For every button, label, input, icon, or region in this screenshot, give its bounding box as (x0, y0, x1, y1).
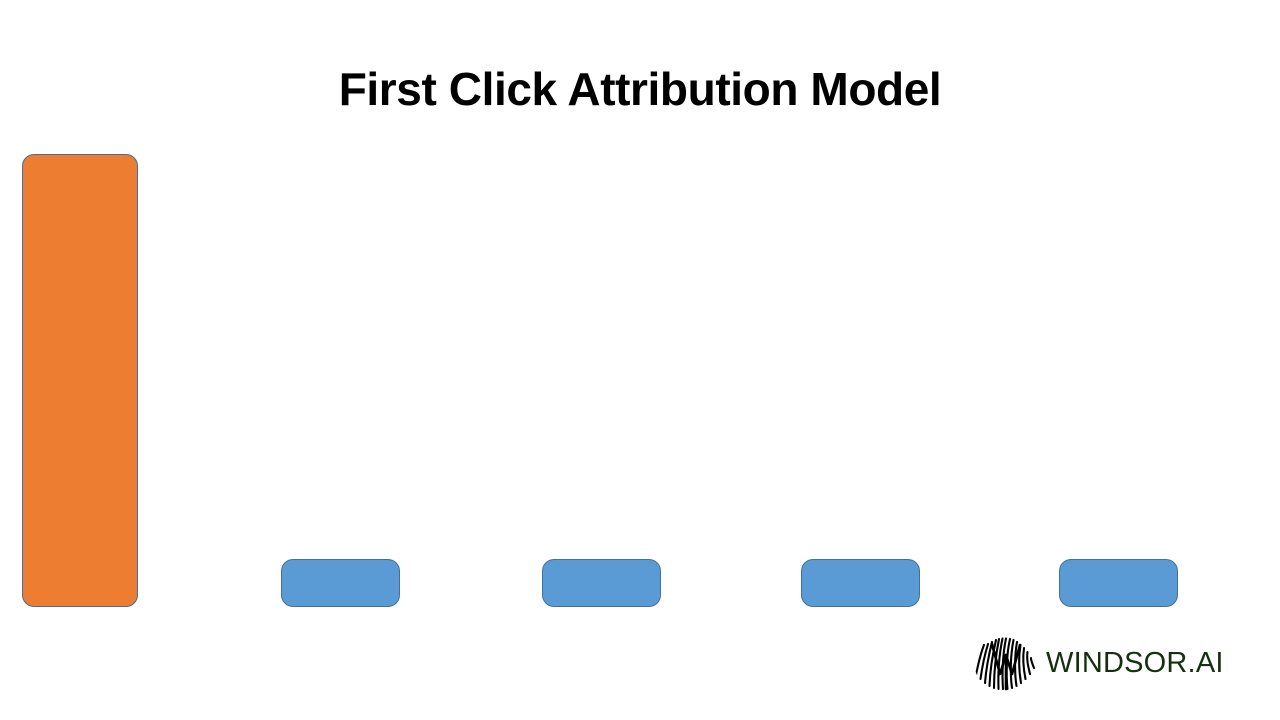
logo-wordmark: WINDSOR.AI (1046, 647, 1224, 680)
slide-canvas: First Click Attribution Model (0, 0, 1280, 720)
chart-bar-1[interactable] (22, 154, 138, 607)
bar-chart-plot-area (0, 0, 1280, 720)
chart-bar-2[interactable] (281, 559, 400, 607)
chart-bar-5[interactable] (1059, 559, 1178, 607)
windsor-ai-logo: WINDSOR.AI (973, 630, 1191, 696)
chart-bar-4[interactable] (801, 559, 920, 607)
chart-bar-3[interactable] (542, 559, 661, 607)
fingerprint-circle-icon (973, 631, 1037, 695)
